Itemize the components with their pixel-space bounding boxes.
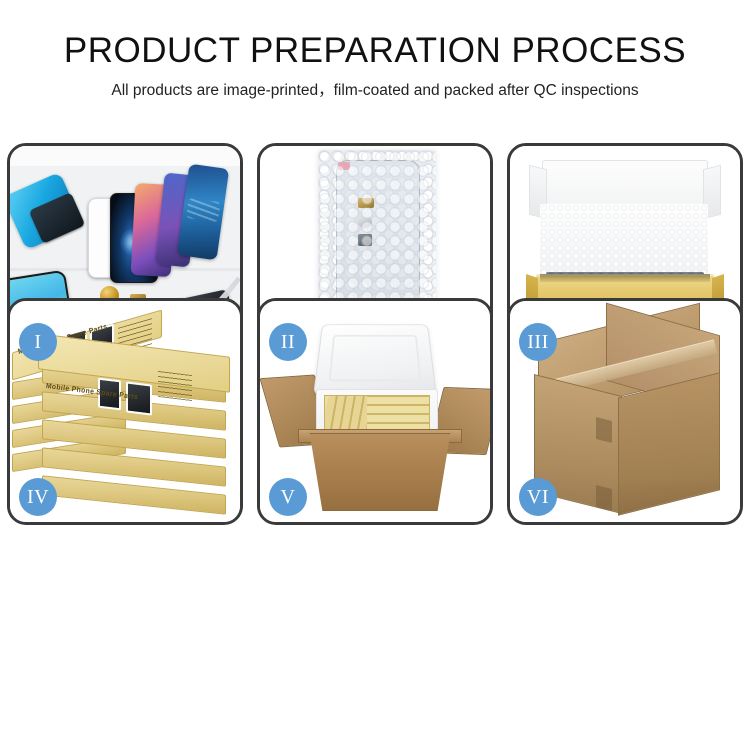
page-title: PRODUCT PREPARATION PROCESS bbox=[0, 30, 750, 72]
step-badge-2: II bbox=[269, 323, 307, 361]
box-print-checklist-icon bbox=[158, 371, 192, 401]
connector-icon bbox=[358, 198, 374, 208]
foam-lid-icon bbox=[313, 324, 437, 395]
carton-notch-icon bbox=[596, 417, 612, 443]
carton-front-icon bbox=[300, 433, 460, 511]
box-inner-shadow bbox=[540, 274, 710, 282]
carton-side-right-icon bbox=[618, 372, 720, 515]
process-grid: I II bbox=[0, 138, 750, 448]
grid-cell: II bbox=[250, 138, 500, 293]
step-badge-4: IV bbox=[19, 478, 57, 516]
connector-icon bbox=[358, 234, 372, 246]
step-badge-1: I bbox=[19, 323, 57, 361]
pink-tab-icon bbox=[338, 162, 350, 170]
grid-cell: I bbox=[0, 138, 250, 293]
grid-cell: V bbox=[250, 293, 500, 448]
grid-cell: Mobile Phone Spare Parts Mobile Phone Sp… bbox=[0, 293, 250, 448]
grid-cell: III bbox=[500, 138, 750, 293]
foam-sheet-icon bbox=[540, 204, 708, 274]
grid-cell: VI bbox=[500, 293, 750, 448]
page-header: PRODUCT PREPARATION PROCESS All products… bbox=[0, 0, 750, 101]
page-subtitle: All products are image-printed，film-coat… bbox=[0, 81, 750, 101]
step-badge-5: V bbox=[269, 478, 307, 516]
connector-icon bbox=[358, 216, 372, 228]
carton-notch-icon bbox=[596, 485, 612, 511]
surface-highlight bbox=[10, 146, 240, 166]
step-badge-3: III bbox=[519, 323, 557, 361]
step-badge-6: VI bbox=[519, 478, 557, 516]
